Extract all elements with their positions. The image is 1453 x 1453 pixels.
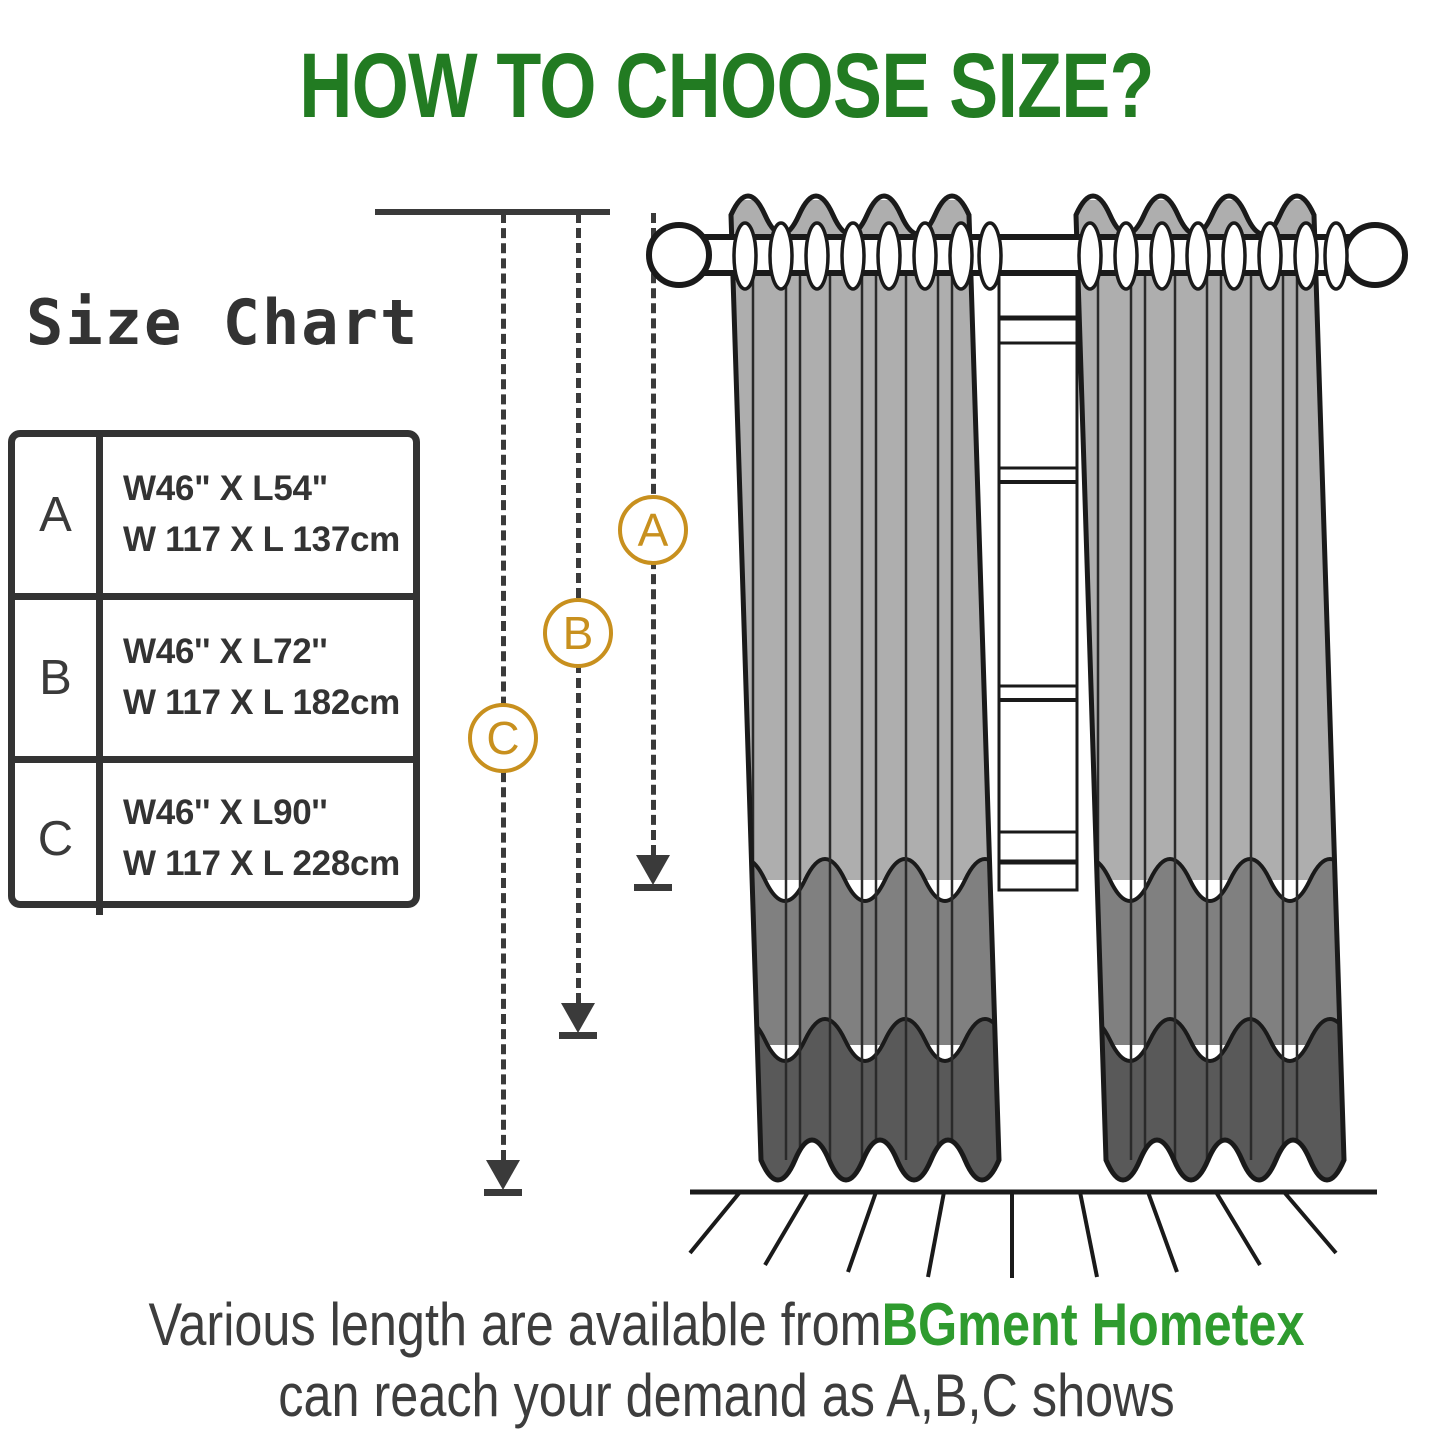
size-guide-image: HOW TO CHOOSE SIZE? Size Chart A W46" X …	[0, 0, 1453, 1453]
length-marker-b: B	[543, 598, 613, 668]
size-values: W46" X L54" W 117 X L 137cm	[103, 437, 413, 593]
caption-line-2: can reach your demand as A,B,C shows	[116, 1361, 1337, 1432]
table-row: A W46" X L54" W 117 X L 137cm	[15, 437, 413, 600]
dimension-line-c	[501, 213, 506, 1160]
caption-line-1: Various length are available fromBGment …	[116, 1290, 1337, 1361]
footer-caption: Various length are available fromBGment …	[116, 1290, 1337, 1432]
curtain-rod	[649, 225, 1405, 285]
size-letter: B	[15, 600, 103, 756]
size-values: W46'' X L90'' W 117 X L 228cm	[103, 763, 413, 915]
size-values: W46'' X L72'' W 117 X L 182cm	[103, 600, 413, 756]
table-row: B W46'' X L72'' W 117 X L 182cm	[15, 600, 413, 763]
floor	[690, 1192, 1377, 1278]
caption-line-1-text: Various length are available from	[149, 1291, 882, 1358]
table-row: C W46'' X L90'' W 117 X L 228cm	[15, 763, 413, 915]
size-inches: W46'' X L90''	[123, 788, 413, 839]
length-marker-a: A	[618, 495, 688, 565]
size-cm: W 117 X L 182cm	[123, 678, 413, 729]
size-chart-heading: Size Chart	[26, 292, 419, 354]
size-inches: W46" X L54"	[123, 464, 413, 515]
size-cm: W 117 X L 228cm	[123, 839, 413, 890]
window-frame	[999, 250, 1077, 890]
curtain-panel-left	[725, 196, 1005, 1200]
curtain-grommets	[734, 223, 1347, 289]
page-title: HOW TO CHOOSE SIZE?	[145, 40, 1307, 132]
size-letter: A	[15, 437, 103, 593]
size-cm: W 117 X L 137cm	[123, 515, 413, 566]
size-inches: W46'' X L72''	[123, 627, 413, 678]
brand-name: BGment Hometex	[882, 1291, 1305, 1358]
guide-reference-line	[375, 209, 610, 215]
length-marker-c: C	[468, 703, 538, 773]
size-letter: C	[15, 763, 103, 915]
curtain-panel-right	[1070, 196, 1350, 1200]
size-chart-table: A W46" X L54" W 117 X L 137cm B W46'' X …	[8, 430, 420, 908]
